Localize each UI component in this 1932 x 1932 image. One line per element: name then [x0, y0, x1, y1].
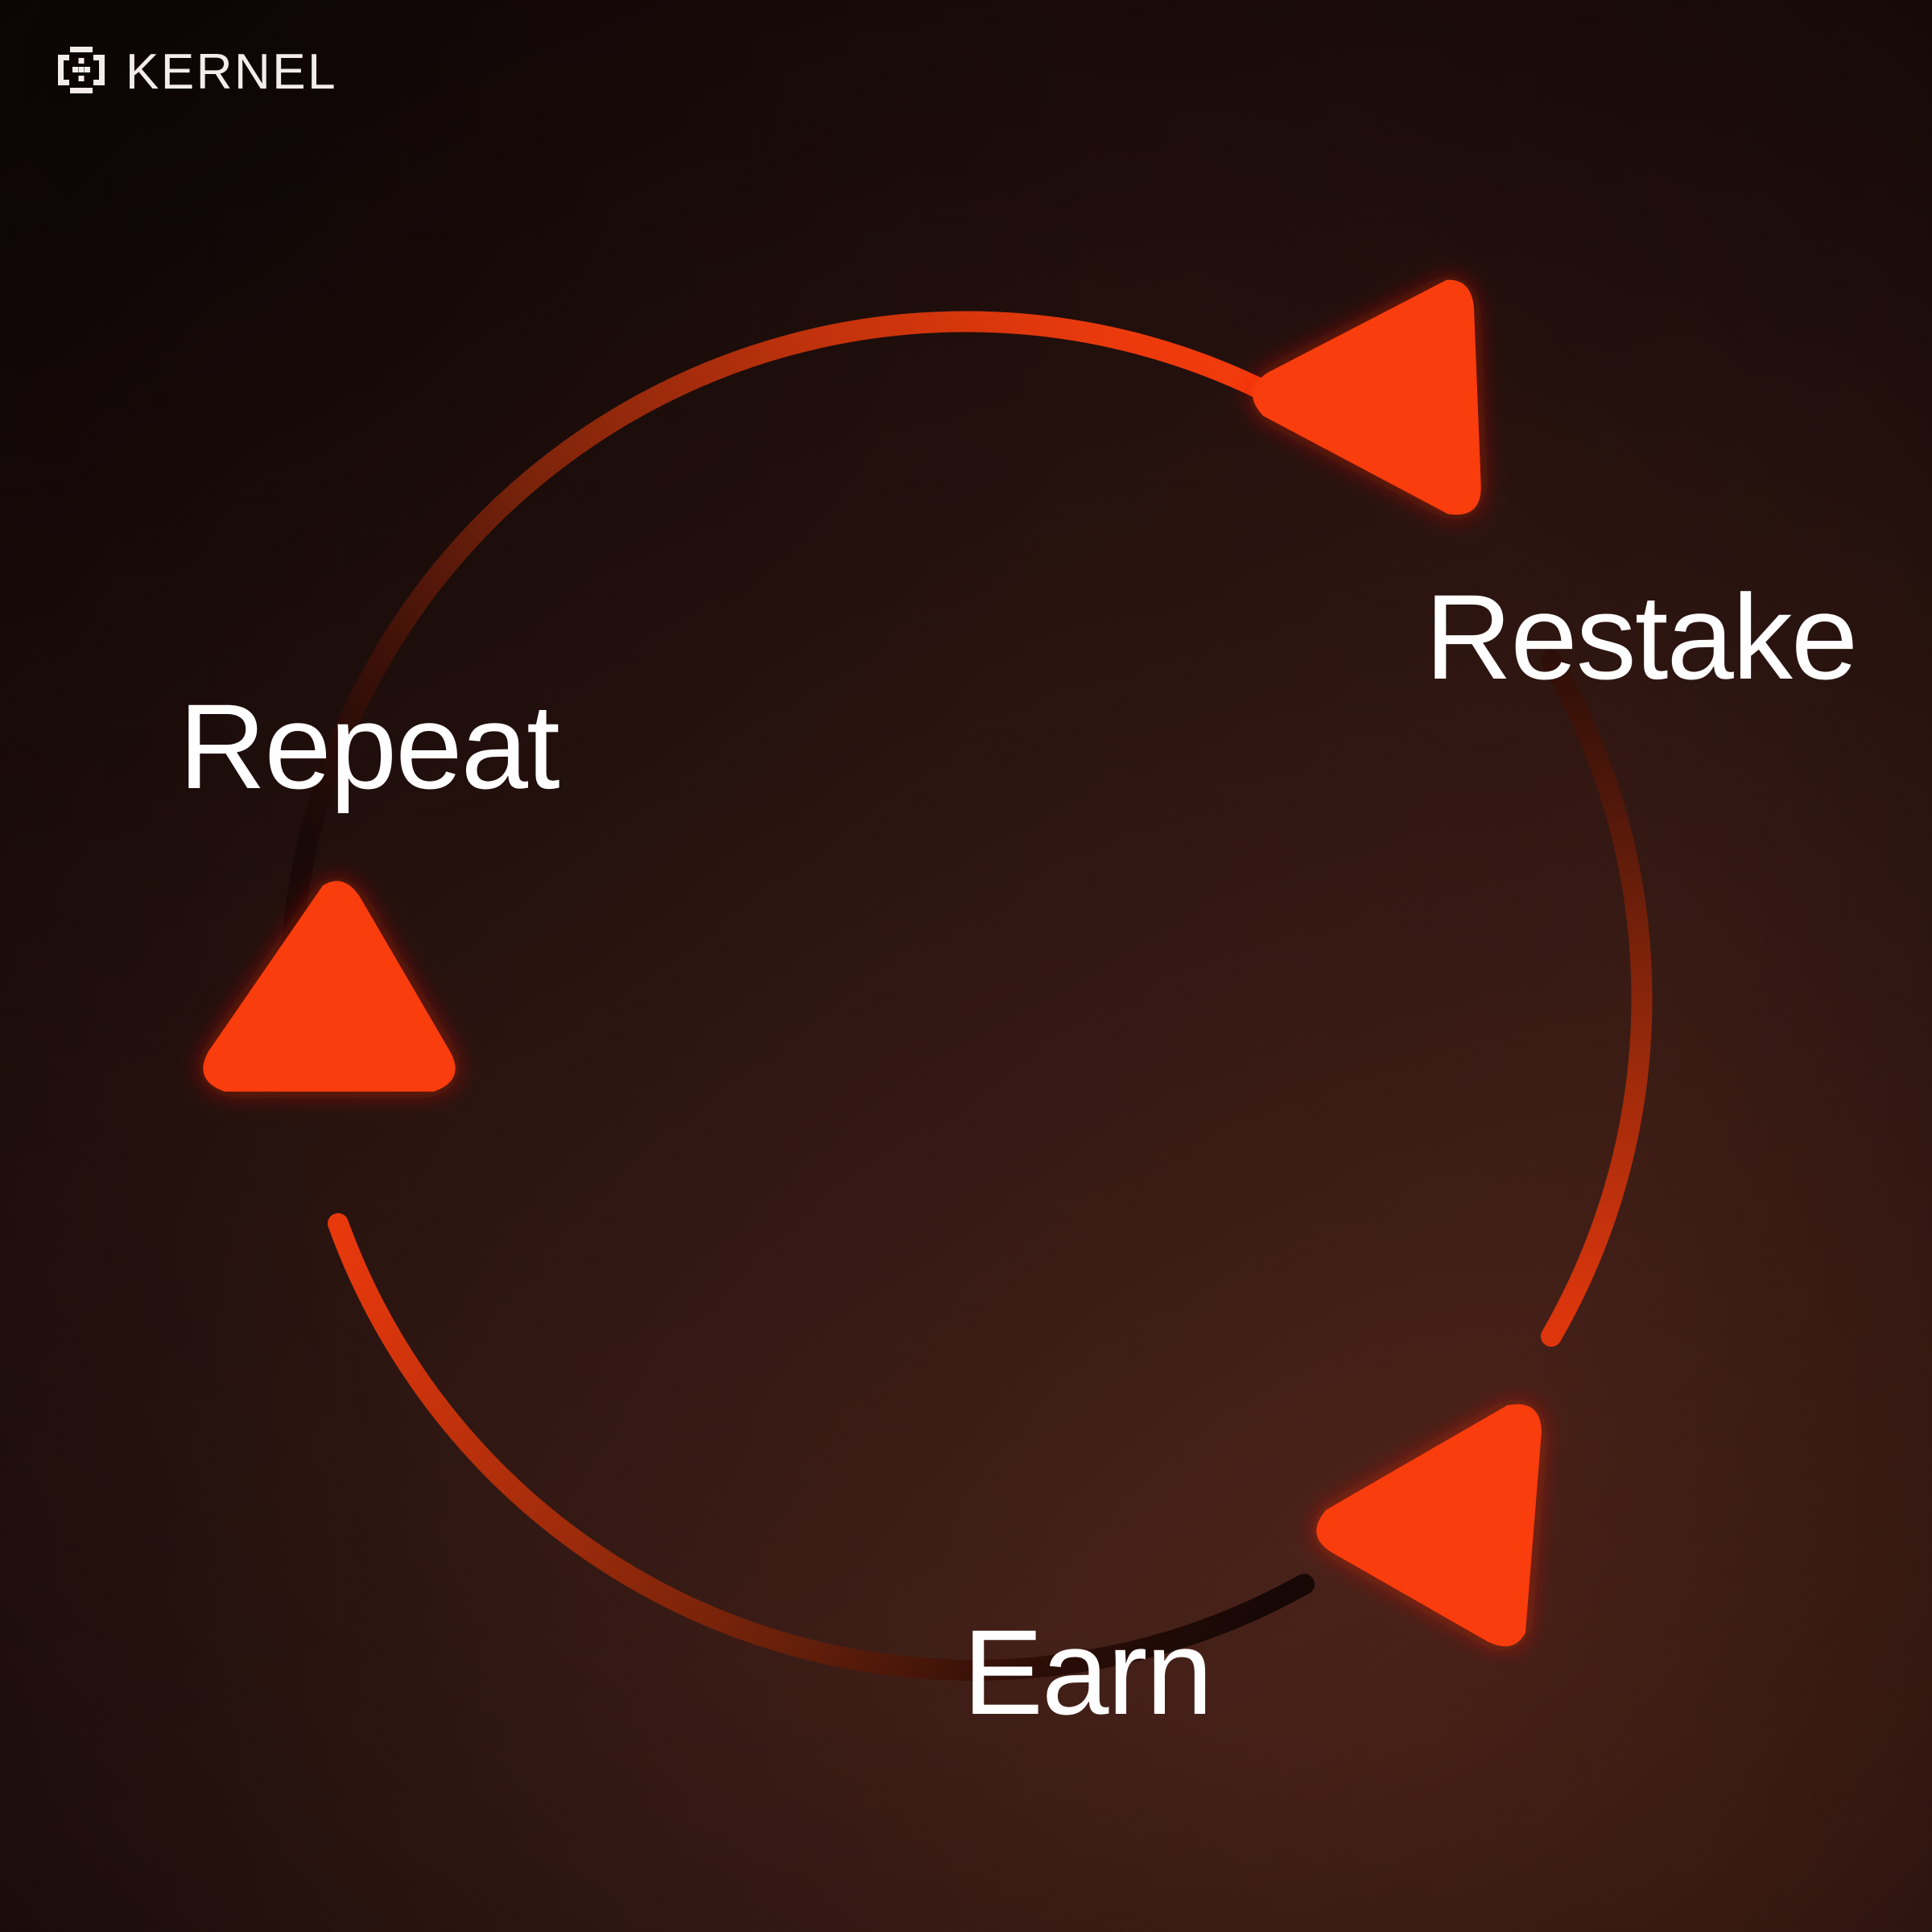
- arc-restake-to-earn: [1551, 660, 1642, 1336]
- arc-earn-to-repeat: [338, 1224, 1304, 1670]
- node-marker-repeat[interactable]: [203, 881, 455, 1092]
- brand-wordmark: KERNEL: [126, 47, 337, 97]
- kernel-bracket-dot-icon: [58, 47, 105, 97]
- cycle-node-markers: [203, 220, 1631, 1703]
- node-marker-restake[interactable]: [1244, 220, 1565, 524]
- arc-repeat-to-restake: [290, 321, 1304, 998]
- node-label-restake: Restake: [1425, 576, 1856, 697]
- node-marker-earn[interactable]: [1307, 1394, 1631, 1703]
- canvas: KERNEL: [0, 0, 1932, 1932]
- brand-logo[interactable]: KERNEL: [58, 47, 337, 97]
- node-label-repeat: Repeat: [179, 686, 559, 807]
- node-label-earn: Earn: [963, 1612, 1212, 1732]
